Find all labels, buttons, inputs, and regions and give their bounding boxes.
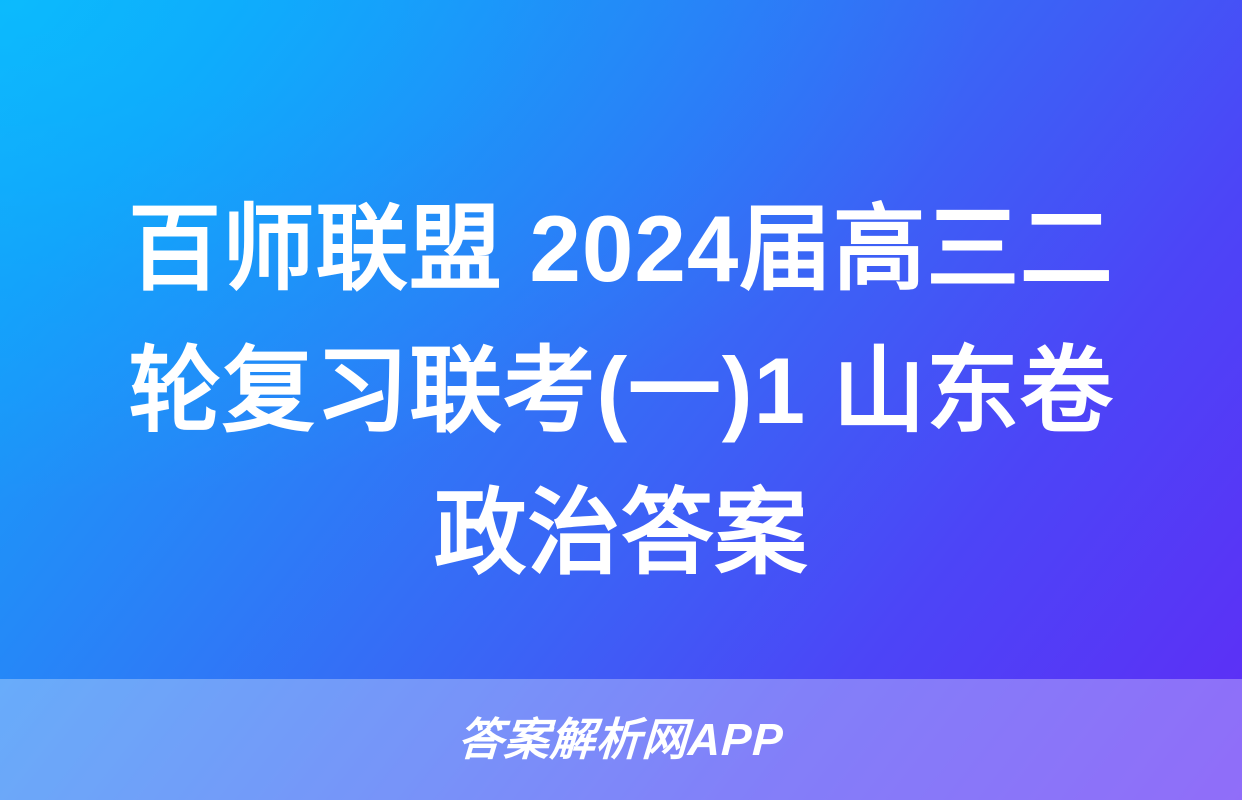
banner-title-block: 百师联盟 2024届高三二 轮复习联考(一)1 山东卷 政治答案 xyxy=(0,178,1242,604)
banner-title-line-2: 轮复习联考(一)1 山东卷 xyxy=(82,320,1160,462)
banner-title-line-3: 政治答案 xyxy=(82,462,1160,604)
banner-title-line-1: 百师联盟 2024届高三二 xyxy=(82,178,1160,320)
exam-answer-cover-banner: 百师联盟 2024届高三二 轮复习联考(一)1 山东卷 政治答案 答案解析网AP… xyxy=(0,0,1242,800)
footer-brand-band: 答案解析网APP xyxy=(0,679,1242,800)
app-brand-label: 答案解析网APP xyxy=(457,717,785,762)
